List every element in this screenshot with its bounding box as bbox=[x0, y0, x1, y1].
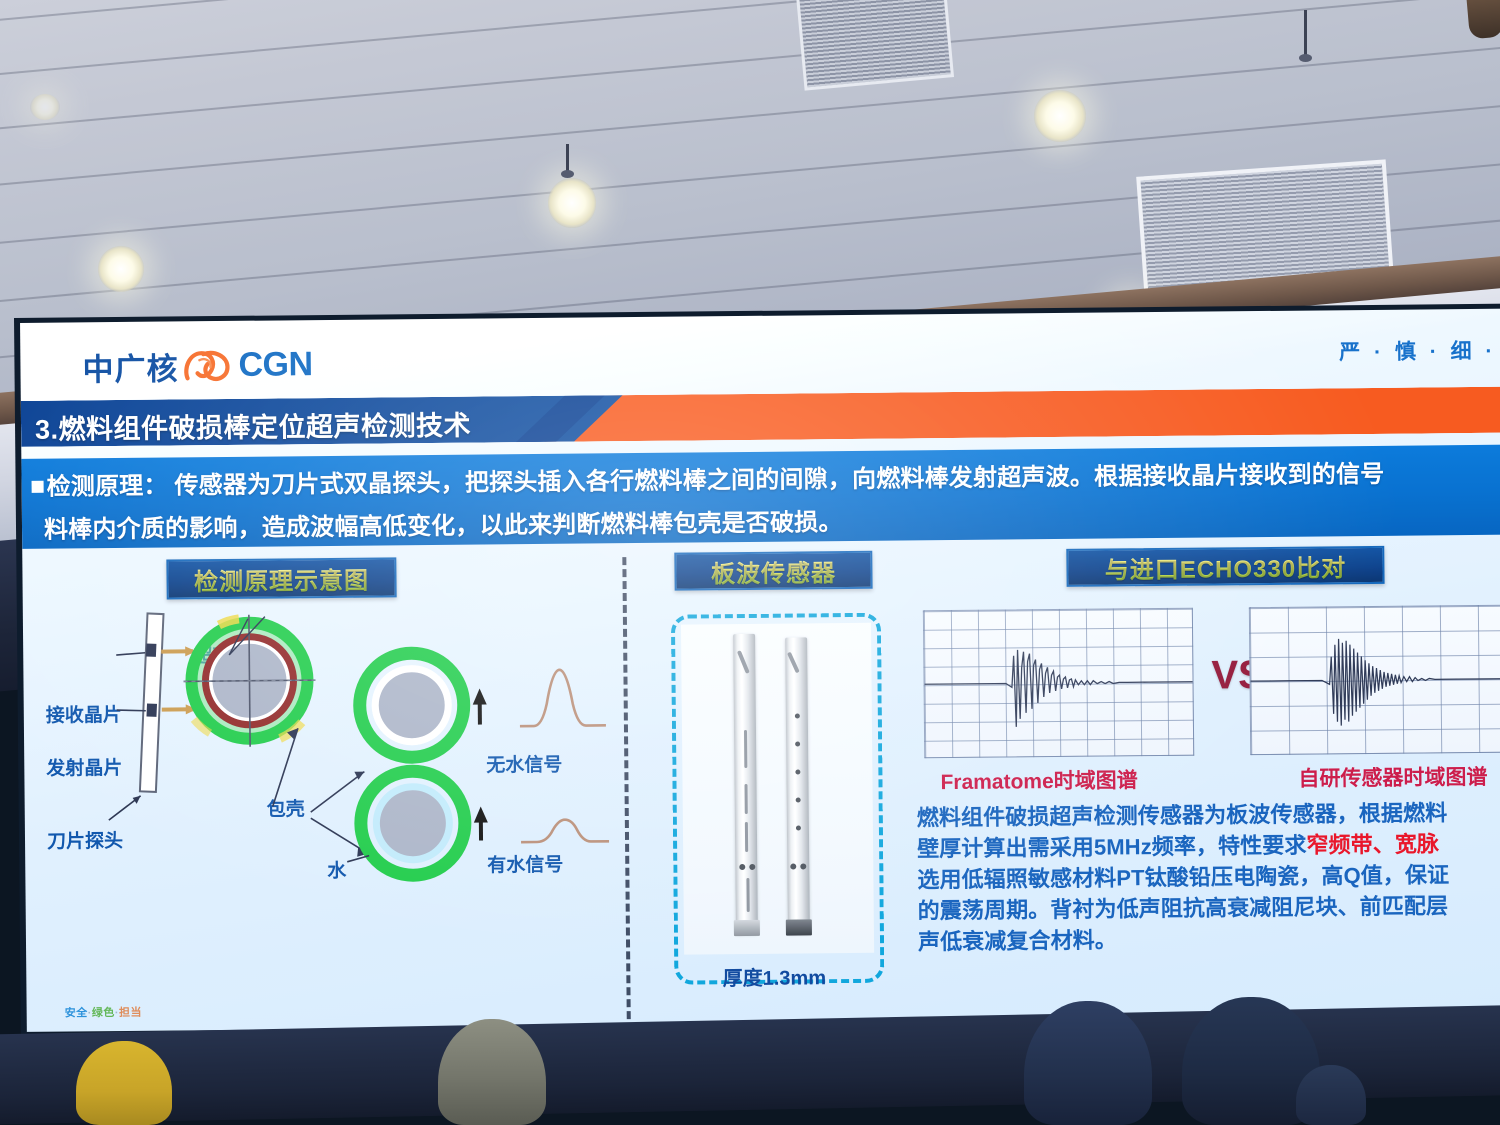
sensor-connector bbox=[786, 919, 812, 935]
sensor-hole bbox=[800, 863, 806, 869]
sensor-title-label: 板波传感器 bbox=[711, 553, 836, 589]
self-developed-chart-caption: 自研传感器时域图谱 bbox=[1298, 761, 1487, 793]
ceiling-hanger bbox=[566, 144, 569, 174]
comparison-title-pill: 与进口ECHO330比对 bbox=[1066, 546, 1384, 587]
sensor-slot bbox=[744, 730, 747, 768]
schematic-drawing bbox=[32, 553, 626, 959]
ceiling-vent-icon bbox=[796, 0, 954, 91]
ceiling-hanger bbox=[1304, 10, 1307, 58]
slogan-part-2: 绿色 bbox=[92, 1007, 115, 1019]
slide-body: 检测原理示意图 超声信号 UT SIGNAL 接收晶片 发射晶片 刀片探头 包壳… bbox=[22, 535, 1500, 1032]
corporate-motto: 严 · 慎 · 细 · bbox=[1339, 335, 1496, 367]
description-line-4: 的震荡周期。背衬为低声阻抗高衰减阻尼块、前匹配层 bbox=[918, 890, 1500, 927]
comparison-description: 燃料组件破损超声检测传感器为板波传感器，根据燃料 壁厚计算出需采用5MHz频率，… bbox=[917, 797, 1500, 958]
framatome-waveform-trace bbox=[924, 609, 1193, 758]
rod-no-water bbox=[359, 653, 464, 758]
framatome-chart-caption: Framatome时域图谱 bbox=[940, 764, 1137, 796]
waveform-no-water bbox=[519, 669, 606, 726]
sensor-slot bbox=[746, 878, 749, 912]
sensor-hole bbox=[749, 864, 755, 870]
sensor-hole bbox=[795, 769, 800, 774]
ceiling-light bbox=[30, 94, 60, 120]
footer-slogan: 安全·绿色·担当 bbox=[65, 1004, 142, 1021]
logo-chinese-text: 中广核 bbox=[82, 343, 178, 389]
signal-arrow-up bbox=[473, 688, 487, 724]
sensor-blade-b bbox=[785, 637, 810, 933]
cgn-swirl-logo-icon bbox=[181, 347, 235, 384]
comparison-panel: 与进口ECHO330比对 VS Framatome时域图谱 bbox=[914, 545, 1500, 1021]
framatome-waveform-chart bbox=[923, 608, 1194, 759]
sensor-title-pill: 板波传感器 bbox=[674, 551, 872, 591]
logo-english-text: CGN bbox=[238, 345, 312, 385]
comparison-title-label: 与进口ECHO330比对 bbox=[1105, 548, 1347, 585]
ceiling-light bbox=[548, 178, 596, 228]
sensor-slot bbox=[745, 784, 748, 814]
cgn-logo: 中广核 CGN bbox=[82, 342, 312, 389]
sensor-thickness-label: 厚度1.3mm bbox=[638, 960, 910, 992]
sensor-slot bbox=[745, 822, 748, 852]
slogan-part-3: 担当 bbox=[119, 1007, 142, 1019]
slogan-part-1: 安全 bbox=[65, 1007, 88, 1019]
sensor-hole bbox=[795, 713, 800, 718]
description-line-2-plain: 壁厚计算出需采用5MHz频率，特性要求 bbox=[917, 833, 1307, 862]
description-line-2-highlight: 窄频带、宽脉 bbox=[1306, 831, 1439, 857]
detection-principle-block: 检测原理： 传感器为刀片式双晶探头，把探头插入各行燃料棒之间的间隙，向燃料棒发射… bbox=[21, 445, 1500, 549]
sensor-connector bbox=[734, 920, 760, 936]
sensor-hole bbox=[796, 797, 801, 802]
waveform-with-water bbox=[521, 819, 609, 842]
self-developed-waveform-trace bbox=[1250, 606, 1500, 754]
sensor-hole bbox=[739, 864, 745, 870]
projection-screen: 中广核 CGN 严 · 慎 · 细 · 3.燃料组件破损棒定位超声检测技术 bbox=[14, 304, 1500, 1036]
ceiling-light bbox=[1034, 90, 1086, 142]
plate-wave-sensor-panel: 板波传感器 bbox=[634, 550, 910, 1023]
self-developed-waveform-chart bbox=[1249, 605, 1500, 755]
ceiling-light bbox=[98, 246, 144, 292]
detection-schematic-panel: 检测原理示意图 超声信号 UT SIGNAL 接收晶片 发射晶片 刀片探头 包壳… bbox=[32, 553, 626, 1029]
presentation-slide: 中广核 CGN 严 · 慎 · 细 · 3.燃料组件破损棒定位超声检测技术 bbox=[20, 309, 1500, 1032]
sensor-hole bbox=[795, 741, 800, 746]
principle-text-1: 检测原理： 传感器为刀片式双晶探头，把探头插入各行燃料棒之间的间隙，向燃料棒发射… bbox=[46, 461, 1384, 501]
signal-arrow-up bbox=[474, 806, 488, 840]
sensor-photo bbox=[681, 623, 874, 955]
square-bullet-icon bbox=[32, 481, 44, 493]
page-title: 3.燃料组件破损棒定位超声检测技术 bbox=[35, 404, 471, 447]
sensor-hole bbox=[796, 825, 801, 830]
sensor-hole bbox=[790, 864, 796, 870]
rod-with-water bbox=[360, 771, 465, 876]
description-line-5: 声低衰减复合材料。 bbox=[918, 921, 1500, 958]
blade-probe-shape bbox=[138, 613, 165, 792]
